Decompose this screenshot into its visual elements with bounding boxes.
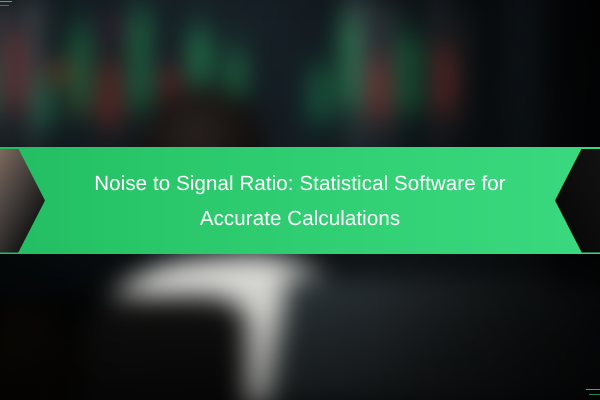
candlestick-wick xyxy=(13,8,15,131)
page-title: Noise to Signal Ratio: Statistical Softw… xyxy=(60,166,540,236)
edge-artifact-top-left-2 xyxy=(0,5,9,6)
candlestick-wick xyxy=(139,0,141,140)
candlestick-bar xyxy=(344,18,355,107)
candlestick-wick xyxy=(43,66,45,139)
edge-artifact-bottom-right-2 xyxy=(589,394,600,395)
ticker-smudge-amber-1 xyxy=(48,66,76,80)
candlestick-wick xyxy=(378,40,380,134)
candlestick-wick xyxy=(444,24,446,133)
candlestick-wick xyxy=(318,50,320,137)
candlestick-bar xyxy=(104,65,115,124)
ribbon-notch-left-icon xyxy=(0,149,45,253)
laptop-silhouette xyxy=(258,277,600,400)
candlestick-bar xyxy=(314,69,325,120)
title-ribbon: Noise to Signal Ratio: Statistical Softw… xyxy=(0,147,600,254)
edge-artifact-top-left xyxy=(0,1,12,2)
screen-glare-2 xyxy=(0,3,3,157)
page-title-line-1: Noise to Signal Ratio: Statistical Softw… xyxy=(94,172,505,195)
candlestick-wick xyxy=(408,6,410,137)
candlestick-bar xyxy=(134,10,145,107)
ribbon-notch-right-icon xyxy=(555,149,600,253)
candlestick-wick xyxy=(109,42,111,144)
ticker-smudge-magenta-1 xyxy=(103,22,125,31)
page-title-line-2: Accurate Calculations xyxy=(60,201,540,236)
desk-shadow xyxy=(0,296,246,400)
candlestick-bar xyxy=(9,35,20,107)
candlestick-wick xyxy=(79,0,81,140)
candlestick-bar xyxy=(39,82,50,124)
screen-glare-7 xyxy=(463,8,469,152)
ticker-smudge-amber-2 xyxy=(69,99,89,109)
screen-glare-5 xyxy=(382,3,390,166)
edge-artifact-bottom-right xyxy=(586,389,600,390)
candlestick-wick xyxy=(348,0,350,137)
candlestick-bar xyxy=(404,35,415,111)
screen-glare-3 xyxy=(28,0,38,171)
hero-banner-stage: Noise to Signal Ratio: Statistical Softw… xyxy=(0,0,600,400)
